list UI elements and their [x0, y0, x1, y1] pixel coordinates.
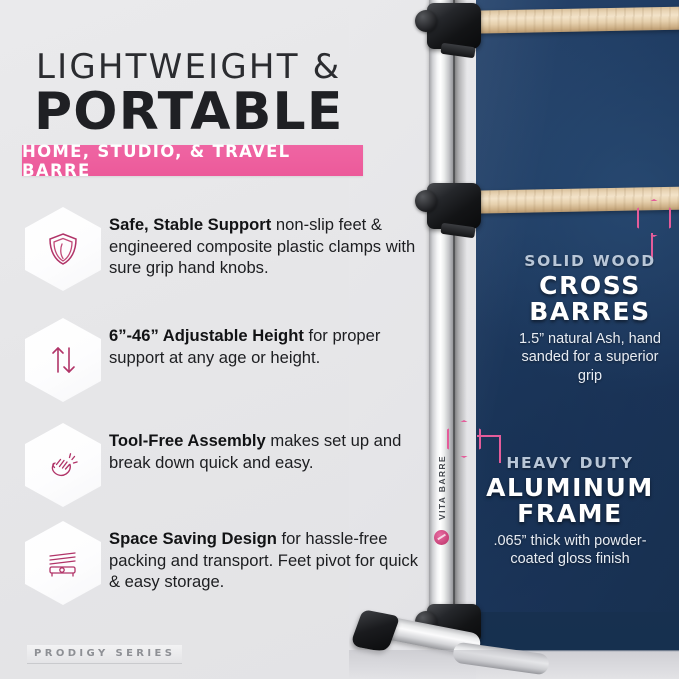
- feature-bold-label: Tool-Free Assembly: [109, 431, 266, 450]
- folded-barre-icon: [25, 521, 101, 605]
- infographic-canvas: VITA BARRE SOLID WOOD CROSS BARRES 1.5” …: [0, 0, 679, 679]
- non-slip-foot-cap: [350, 609, 400, 652]
- series-tag: PRODIGY SERIES: [27, 645, 182, 664]
- vita-barre-logo-icon: [434, 530, 449, 545]
- callout-detail: 1.5” natural Ash, hand sanded for a supe…: [510, 330, 670, 385]
- up-down-arrows-icon: [25, 318, 101, 402]
- callout-leader-line-frame-horizontal: [477, 435, 501, 437]
- headline-line-1: LIGHTWEIGHT &: [36, 50, 341, 84]
- callout-headline: ALUMINUM FRAME: [475, 475, 665, 526]
- feature-bold-label: Safe, Stable Support: [109, 215, 271, 234]
- callout-eyebrow: HEAVY DUTY: [475, 455, 665, 472]
- hexagon-outline-icon: [637, 199, 671, 237]
- subtitle-banner-text: HOME, STUDIO, & TRAVEL BARRE: [22, 142, 363, 180]
- feature-item-tool-free-assembly: Tool-Free Assembly makes set up and brea…: [25, 423, 429, 507]
- hexagon-outline-icon: [447, 420, 481, 458]
- subtitle-banner: HOME, STUDIO, & TRAVEL BARRE: [22, 145, 363, 176]
- clamp-assembly-middle: [427, 183, 481, 229]
- callout-eyebrow: SOLID WOOD: [510, 253, 670, 270]
- pole-shadow: [453, 0, 467, 636]
- headline-line-2: PORTABLE: [34, 86, 344, 138]
- feature-item-space-saving-design: Space Saving Design for hassle-free pack…: [25, 521, 429, 605]
- feature-item-adjustable-height: 6”-46” Adjustable Height for proper supp…: [25, 318, 429, 402]
- feature-bold-label: 6”-46” Adjustable Height: [109, 326, 304, 345]
- callout-headline: CROSS BARRES: [510, 273, 670, 324]
- waving-hand-icon: [25, 423, 101, 507]
- callout-detail: .065” thick with powder-coated gloss fin…: [475, 532, 665, 569]
- clamp-assembly-top: [427, 3, 481, 49]
- floor-shadow: [349, 650, 679, 679]
- callout-aluminum-frame: HEAVY DUTY ALUMINUM FRAME .065” thick wi…: [475, 455, 665, 569]
- feature-text: Space Saving Design for hassle-free pack…: [109, 521, 429, 593]
- feature-bold-label: Space Saving Design: [109, 529, 277, 548]
- shield-icon: [25, 207, 101, 291]
- feature-text: 6”-46” Adjustable Height for proper supp…: [109, 318, 429, 368]
- feature-text: Tool-Free Assembly makes set up and brea…: [109, 423, 429, 473]
- feature-item-safe-stable-support: Safe, Stable Support non-slip feet & eng…: [25, 207, 429, 291]
- callout-hexagon-marker-frame: [447, 420, 478, 455]
- callout-solid-wood: SOLID WOOD CROSS BARRES 1.5” natural Ash…: [510, 253, 670, 385]
- feature-text: Safe, Stable Support non-slip feet & eng…: [109, 207, 429, 279]
- callout-hexagon-marker-wood: [637, 199, 668, 234]
